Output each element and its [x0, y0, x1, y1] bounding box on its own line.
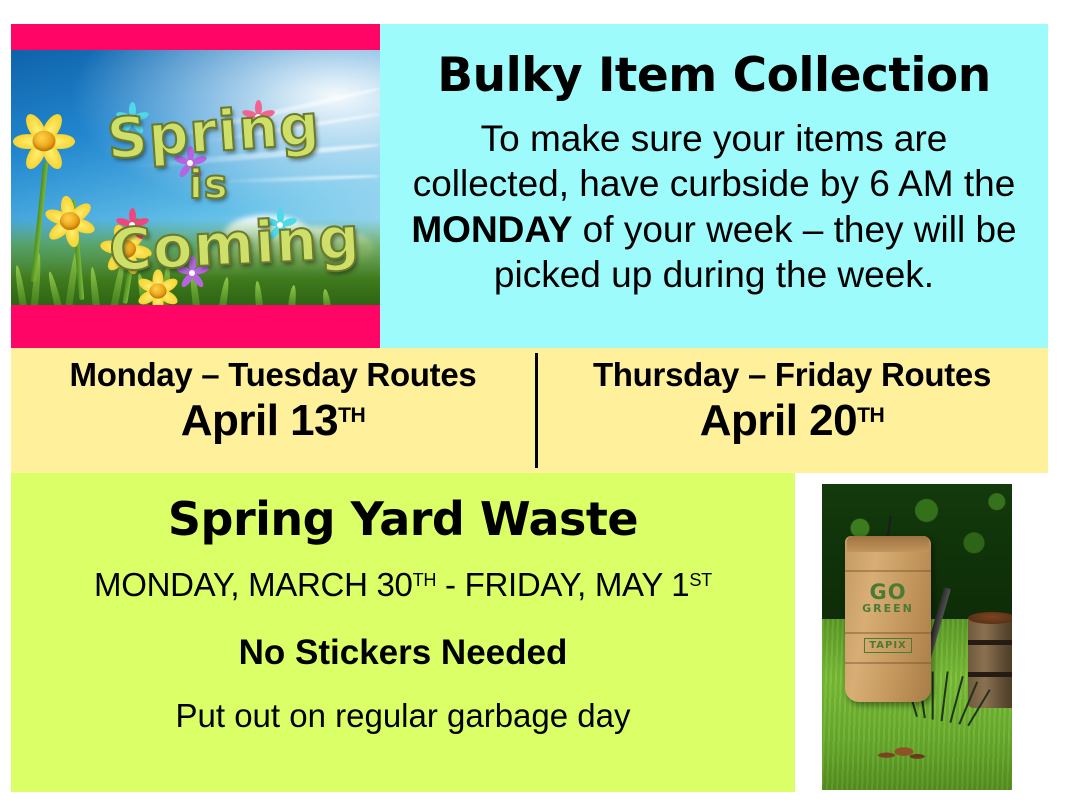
route-column-thursday-friday: Thursday – Friday Routes April 20TH — [536, 348, 1048, 473]
yard-waste-heading: Spring Yard Waste — [11, 473, 795, 543]
pickup-note: Put out on regular garbage day — [11, 672, 795, 734]
bulky-body-emphasis: MONDAY — [411, 209, 572, 250]
route-title: Monday – Tuesday Routes — [11, 348, 535, 395]
spring-is-coming-image: Spring is Coming — [11, 50, 380, 305]
route-column-monday-tuesday: Monday – Tuesday Routes April 13TH — [11, 348, 535, 473]
route-date-value: April 13 — [181, 396, 338, 445]
no-stickers-note: No Stickers Needed — [11, 604, 795, 673]
bag-logo-green: GREEN — [845, 602, 931, 615]
is-word: is — [189, 162, 229, 208]
yard-waste-panel: Spring Yard Waste MONDAY, MARCH 30TH - F… — [11, 473, 795, 792]
bulky-item-panel: Bulky Item Collection To make sure your … — [380, 24, 1048, 348]
route-date-value: April 20 — [700, 396, 857, 445]
route-title: Thursday – Friday Routes — [536, 348, 1048, 395]
spring-is-coming-text: Spring is Coming — [11, 50, 380, 305]
route-date: April 13TH — [11, 395, 535, 448]
yard-date-start-ordinal: TH — [413, 570, 437, 590]
yard-date-start: MONDAY, MARCH 30 — [94, 566, 413, 603]
bulky-body-part1: To make sure your items are collected, h… — [413, 118, 1016, 204]
bag-logo-brand: TAPIX — [845, 640, 931, 651]
spring-image-panel: Spring is Coming — [11, 24, 380, 348]
route-date: April 20TH — [536, 395, 1048, 448]
route-date-ordinal: TH — [338, 404, 365, 427]
leaf-pile-icon — [872, 742, 930, 766]
flyer-page: Spring is Coming Bulky Item Collection T… — [0, 0, 1071, 812]
yard-date-end: FRIDAY, MAY 1 — [465, 566, 690, 603]
yard-date-separator: - — [436, 566, 464, 603]
spring-word: Spring — [105, 93, 322, 173]
bag-logo-go: GO — [845, 580, 931, 604]
bulky-item-body: To make sure your items are collected, h… — [380, 100, 1048, 297]
yard-waste-bag: GO GREEN TAPIX — [845, 536, 931, 702]
routes-band: Monday – Tuesday Routes April 13TH Thurs… — [11, 348, 1048, 473]
top-section: Spring is Coming Bulky Item Collection T… — [11, 24, 1048, 348]
bulky-body-part2: of your week – they will be picked up du… — [494, 209, 1017, 295]
yard-waste-dates: MONDAY, MARCH 30TH - FRIDAY, MAY 1ST — [11, 543, 795, 603]
yard-waste-bag-image: GO GREEN TAPIX — [822, 484, 1012, 790]
route-date-ordinal: TH — [857, 404, 884, 427]
coming-word: Coming — [107, 203, 362, 284]
yard-date-end-ordinal: ST — [689, 570, 712, 590]
bag-brand-text: TAPIX — [864, 638, 912, 653]
bulky-item-heading: Bulky Item Collection — [380, 24, 1048, 100]
